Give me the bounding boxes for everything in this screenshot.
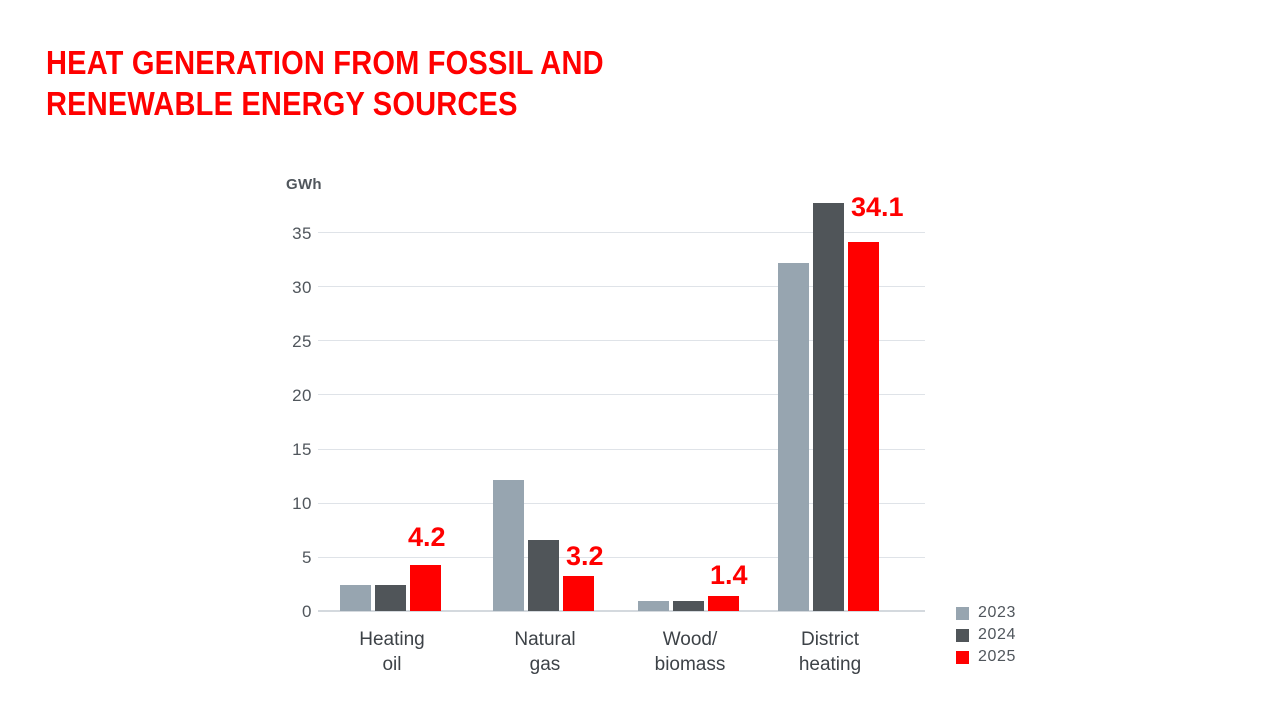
y-tick-label-35: 35 [272,224,312,244]
y-tick-label-10: 10 [272,494,312,514]
y-tick-label-15: 15 [272,440,312,460]
bar-2024-natural-gas [528,540,559,611]
legend-item-2024[interactable]: 2024 [956,624,1016,646]
bar-2025-natural-gas [563,576,594,611]
plot-area [318,232,925,611]
bar-2025-district-heating [848,242,879,611]
value-label-heating-oil: 4.2 [408,522,446,553]
bar-2023-natural-gas [493,480,524,611]
bar-chart: HEAT GENERATION FROM FOSSIL AND RENEWABL… [0,0,1280,714]
legend-swatch-icon-2025 [956,651,969,664]
value-label-district-heating: 34.1 [851,192,904,223]
bar-2024-district-heating [813,203,844,611]
bar-2024-wood-biomass [673,601,704,611]
value-label-natural-gas: 3.2 [566,541,604,572]
bar-2024-heating-oil [375,585,406,611]
legend-label-2024: 2024 [978,626,1016,644]
x-category-label-wood-biomass: Wood/ biomass [615,627,765,677]
bar-2025-wood-biomass [708,596,739,611]
y-tick-label-25: 25 [272,332,312,352]
y-tick-label-30: 30 [272,278,312,298]
y-axis-unit-label: GWh [286,176,322,193]
legend-swatch-icon-2023 [956,607,969,620]
legend-swatch-icon-2024 [956,629,969,642]
x-category-label-district-heating: District heating [755,627,905,677]
bar-2025-heating-oil [410,565,441,611]
x-category-label-natural-gas: Natural gas [470,627,620,677]
legend: 2023 2024 2025 [956,602,1016,668]
legend-item-2025[interactable]: 2025 [956,646,1016,668]
page-title: HEAT GENERATION FROM FOSSIL AND RENEWABL… [46,42,750,124]
x-category-label-heating-oil: Heating oil [317,627,467,677]
bar-2023-heating-oil [340,585,371,611]
value-label-wood-biomass: 1.4 [710,560,748,591]
bar-2023-district-heating [778,263,809,611]
legend-item-2023[interactable]: 2023 [956,602,1016,624]
bar-2023-wood-biomass [638,601,669,611]
legend-label-2025: 2025 [978,648,1016,666]
legend-label-2023: 2023 [978,604,1016,622]
y-tick-label-0: 0 [272,602,312,622]
y-tick-label-20: 20 [272,386,312,406]
y-tick-label-5: 5 [272,548,312,568]
